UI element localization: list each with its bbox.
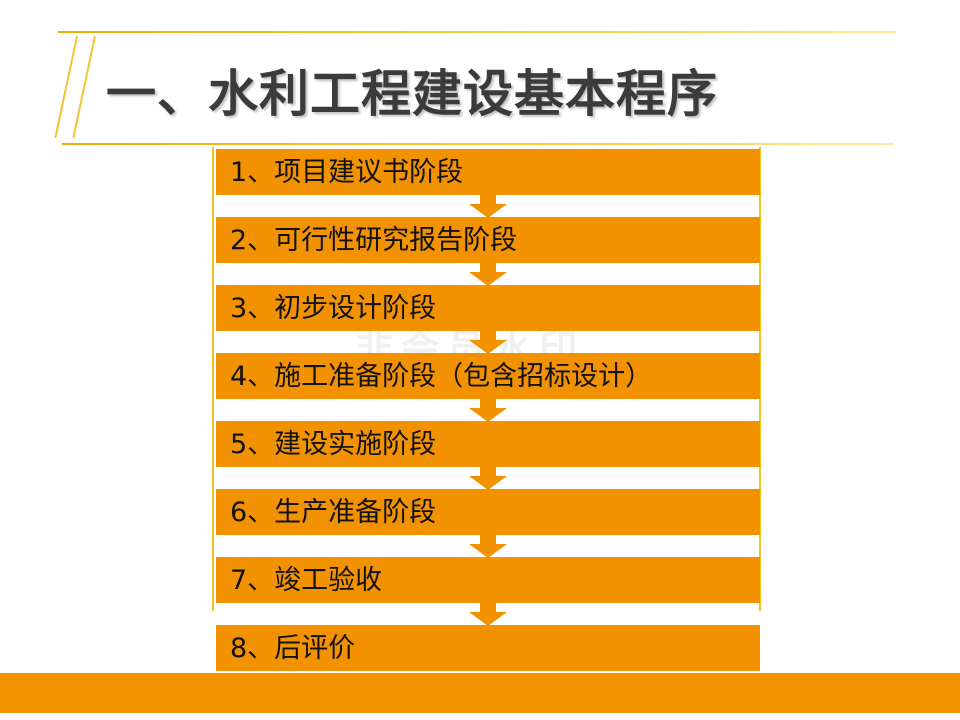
flow-step-label: 7、竣工验收	[216, 567, 382, 594]
arrow-head	[469, 476, 507, 490]
flow-step[interactable]: 7、竣工验收	[216, 557, 760, 603]
slide-canvas: 一、水利工程建设基本程序 非会员水印 1、项目建议书阶段2、可行性研究报告阶段3…	[0, 0, 960, 720]
arrow-head	[469, 272, 507, 286]
arrow-down-icon	[469, 195, 507, 217]
arrow-down-icon	[469, 263, 507, 285]
flow-step-label: 2、可行性研究报告阶段	[216, 227, 517, 254]
flow-guide-line-left	[212, 147, 214, 611]
flow-step[interactable]: 5、建设实施阶段	[216, 421, 760, 467]
flow-connector	[216, 331, 760, 353]
arrow-down-icon	[469, 331, 507, 353]
flow-step-label: 6、生产准备阶段	[216, 499, 436, 526]
flow-step[interactable]: 8、后评价	[216, 625, 760, 671]
flow-connector	[216, 195, 760, 217]
arrow-head	[469, 408, 507, 422]
title-slash-decoration-icon	[72, 36, 96, 138]
footer-base-strip	[0, 713, 960, 720]
flow-connector	[216, 603, 760, 625]
flow-step[interactable]: 4、施工准备阶段（包含招标设计）	[216, 353, 760, 399]
arrow-down-icon	[469, 399, 507, 421]
flow-step[interactable]: 3、初步设计阶段	[216, 285, 760, 331]
flow-step-label: 8、后评价	[216, 635, 355, 662]
arrow-down-icon	[469, 467, 507, 489]
flow-step-label: 4、施工准备阶段（包含招标设计）	[216, 363, 652, 390]
flow-connector	[216, 467, 760, 489]
page-title: 一、水利工程建设基本程序	[106, 57, 718, 131]
arrow-head	[469, 612, 507, 626]
flow-step-label: 5、建设实施阶段	[216, 431, 436, 458]
flow-step-label: 1、项目建议书阶段	[216, 159, 463, 186]
arrow-down-icon	[469, 535, 507, 557]
flow-step-label: 3、初步设计阶段	[216, 295, 436, 322]
flow-connector	[216, 535, 760, 557]
flow-step[interactable]: 6、生产准备阶段	[216, 489, 760, 535]
arrow-head	[469, 340, 507, 354]
arrow-head	[469, 204, 507, 218]
arrow-down-icon	[469, 603, 507, 625]
footer-bar	[0, 673, 960, 713]
flow-chart: 1、项目建议书阶段2、可行性研究报告阶段3、初步设计阶段4、施工准备阶段（包含招…	[216, 149, 760, 671]
flow-step[interactable]: 1、项目建议书阶段	[216, 149, 760, 195]
arrow-head	[469, 544, 507, 558]
flow-step[interactable]: 2、可行性研究报告阶段	[216, 217, 760, 263]
header-bottom-rule	[62, 143, 894, 145]
header-top-rule	[58, 31, 896, 33]
flow-connector	[216, 263, 760, 285]
flow-connector	[216, 399, 760, 421]
